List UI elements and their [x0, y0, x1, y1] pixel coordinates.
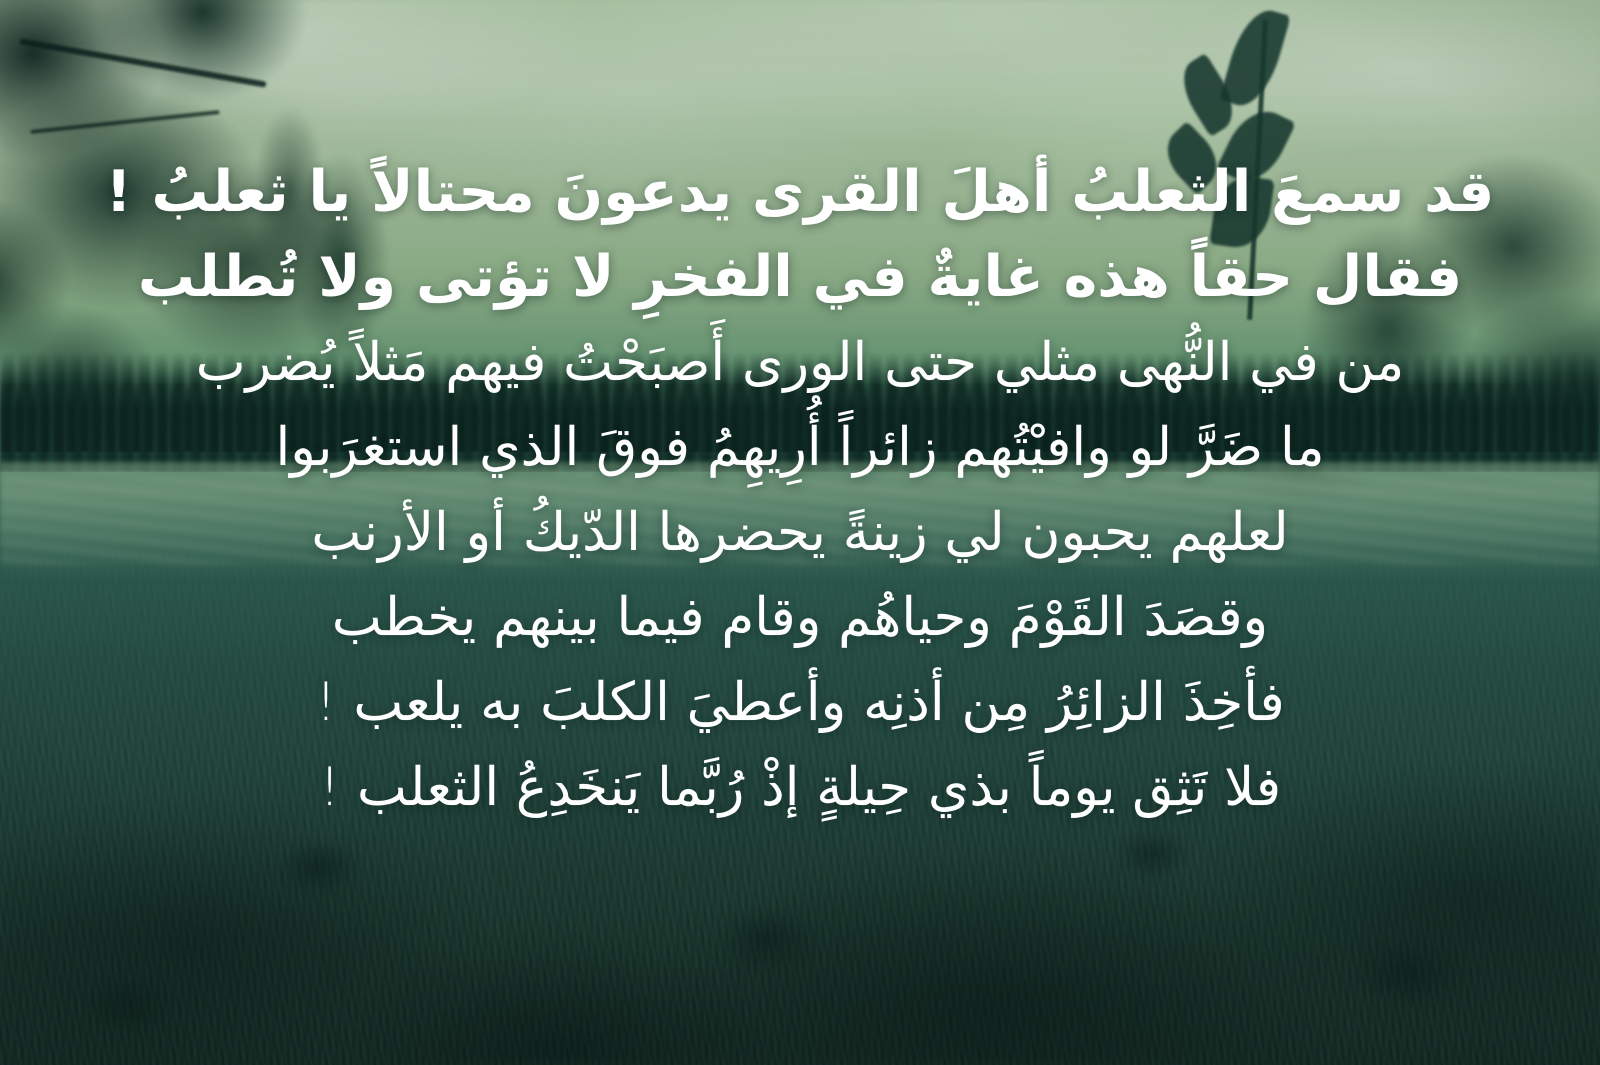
poem-line-2: فقال حقاً هذه غايةٌ في الفخرِ لا تؤتى ول…: [48, 235, 1552, 320]
poem-line-8: فلا تَثِق يوماً بذي حِيلةٍ إذْ رُبَّما ي…: [48, 745, 1552, 830]
poem-poster: قد سمعَ الثعلبُ أهلَ القرى يدعونَ محتالا…: [0, 0, 1600, 1065]
poem-line-6: وقصَدَ القَوْمَ وحياهُم وقام فيما بينهم …: [48, 575, 1552, 660]
poem-line-3: من في النُّهى مثلي حتى الورى أَصبَحْتُ ف…: [48, 320, 1552, 405]
poem-line-7: فأخِذَ الزائِرُ مِن أذنِه وأعطيَ الكلبَ …: [48, 660, 1552, 745]
poem-body: قد سمعَ الثعلبُ أهلَ القرى يدعونَ محتالا…: [0, 150, 1600, 830]
poem-line-5: لعلهم يحبون لي زينةً يحضرها الدّيكُ أو ا…: [48, 490, 1552, 575]
poem-line-1: قد سمعَ الثعلبُ أهلَ القرى يدعونَ محتالا…: [48, 150, 1552, 235]
poem-line-4: ما ضَرَّ لو وافيْتُهم زائراً أُرِيهِمُ ف…: [48, 405, 1552, 490]
